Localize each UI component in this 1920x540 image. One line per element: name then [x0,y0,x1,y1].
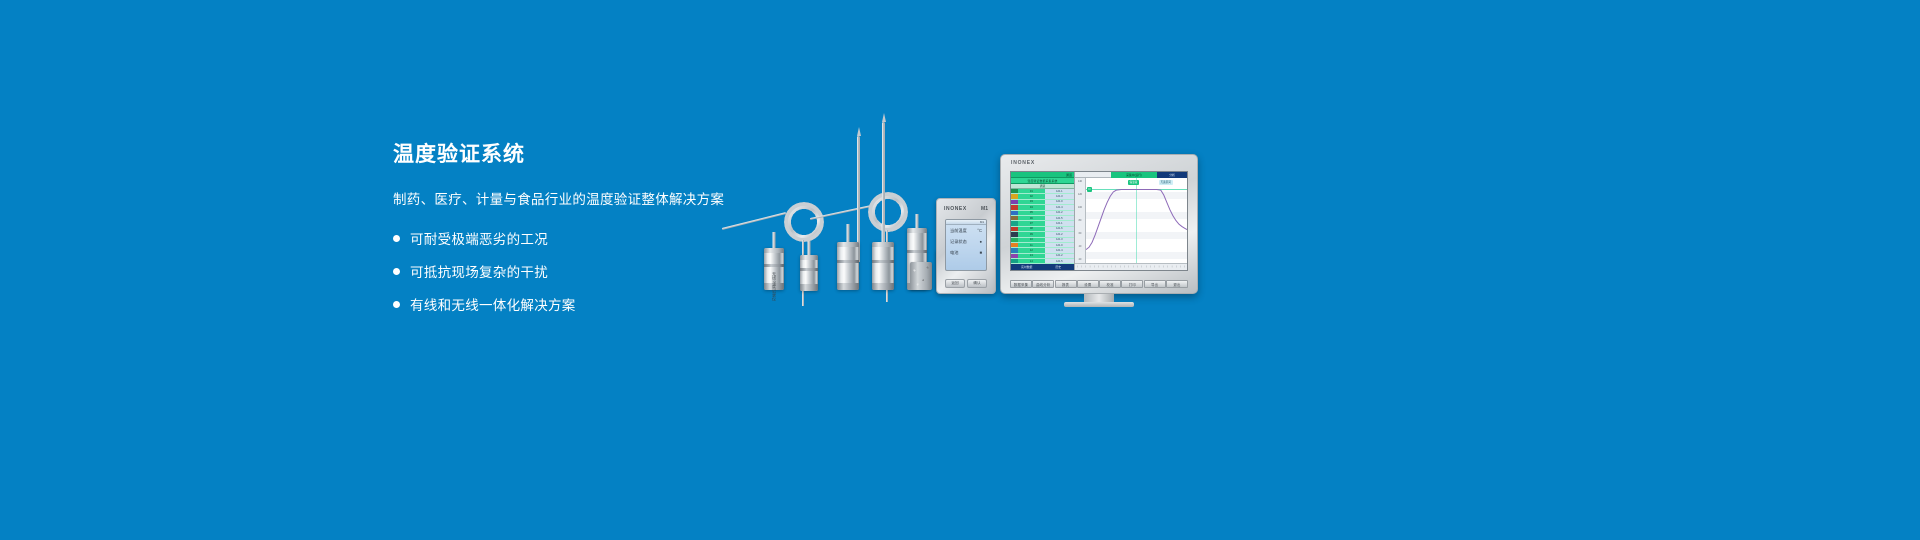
channel-value-cell: 121.2 [1045,232,1074,236]
y-axis-tick: 60 [1079,232,1082,235]
y-axis-tick: 80 [1079,219,1082,222]
tab-realtime[interactable]: 实时数据 [1011,264,1043,270]
handheld-row-label: 记录状态 [950,239,967,245]
bullet-dot-icon [393,268,400,275]
handheld-reader[interactable]: INONEX M1 M1 当前温度 °C 记录状态 ● 电池 ■ [936,198,996,294]
channel-id-cell: 03 [1018,200,1045,203]
channel-id-cell: 08 [1018,227,1045,230]
bullet-label: 可抵抗现场复杂的干扰 [410,261,548,281]
chart-plot-area[interactable]: D 保温段 灭菌区间 [1086,178,1187,263]
channel-table-body[interactable]: 01121.102121.303121.004121.405121.206121… [1011,189,1074,264]
channel-value-cell: 121.1 [1045,189,1074,193]
handheld-back-button[interactable]: 返回 [945,279,965,288]
plot-wrapper: 14012010080604020 D 保温段 灭菌区间 [1075,178,1187,263]
channel-value-cell: 121.1 [1045,221,1074,225]
footer-button-print[interactable]: 打印 [1121,280,1143,288]
handheld-row: 当前温度 °C [946,225,986,236]
chart-y-axis: 14012010080604020 [1075,178,1086,263]
x-axis-tick: | [1183,264,1187,270]
chart-left-marker[interactable]: D [1087,187,1092,192]
channel-value-cell: 121.5 [1045,216,1074,220]
data-logger-body [837,242,859,290]
handheld-brand-label: INONEX [944,206,967,212]
channel-color-swatch [1011,211,1018,215]
chart-cursor-pill[interactable]: 保温段 [1128,180,1140,185]
channel-color-swatch [1011,238,1018,242]
channel-value-cell: 121.3 [1045,238,1074,242]
tab-history[interactable]: 历史 [1043,264,1075,270]
handheld-row: 记录状态 ● [946,236,986,247]
channel-id-cell: 09 [1018,233,1045,236]
channel-color-swatch [1011,194,1018,198]
channel-id-cell: 04 [1018,206,1045,209]
handheld-confirm-button[interactable]: 确认 [967,279,987,288]
bullet-dot-icon [393,235,400,242]
channel-value-cell: 121.2 [1045,254,1074,258]
chart-panel: 采集中(运行) 分析 14012010080604020 D [1075,172,1187,270]
bullet-dot-icon [393,301,400,308]
y-axis-tick: 40 [1079,245,1082,248]
product-image-group: 无线温度记录仪 IN [700,110,1220,330]
handheld-screen-title: M1 [980,220,984,224]
channel-color-swatch [1011,227,1018,231]
monitor-display: INONEX 通道 温度验证数据采集系统 通道 01121.102121.303… [1000,154,1198,294]
monitor-stand [1000,294,1198,308]
software-footer-tabs: 实时数据 历史 [1011,264,1074,270]
temperature-curve [1086,178,1187,263]
channel-value-cell: 121.0 [1045,243,1074,247]
handheld-row-value: ■ [979,250,982,255]
channel-id-cell: 13 [1018,254,1045,257]
channel-id-cell: 10 [1018,238,1045,241]
chart-range-pill[interactable]: 灭菌区间 [1159,180,1173,185]
channel-value-cell: 121.4 [1045,205,1074,209]
footer-button-settings[interactable]: 设置 [1077,280,1099,288]
bullet-label: 有线和无线一体化解决方案 [410,294,576,314]
data-logger-body [800,255,818,291]
footer-button-export[interactable]: 导出 [1144,280,1166,288]
channel-id-cell: 11 [1018,244,1045,247]
channel-id-cell: 01 [1018,190,1045,193]
y-axis-tick: 120 [1078,193,1082,196]
y-axis-tick: 20 [1079,258,1082,261]
channel-value-cell: 121.0 [1045,200,1074,204]
channel-value-cell: 121.3 [1045,194,1074,198]
footer-button-calibrate[interactable]: 校准 [1099,280,1121,288]
monitor-screen[interactable]: 通道 温度验证数据采集系统 通道 01121.102121.303121.004… [1010,171,1188,271]
channel-value-cell: 121.5 [1045,259,1074,263]
monitor-footer-bar: 数据采集 曲线分析 报表 设置 校准 打印 导出 退出 [1010,280,1188,288]
bullet-label: 可耐受极端恶劣的工况 [410,228,548,248]
channel-value-cell: 121.4 [1045,248,1074,252]
channel-color-swatch [1011,254,1018,258]
channel-table-panel: 通道 温度验证数据采集系统 通道 01121.102121.303121.004… [1011,172,1075,270]
channel-color-swatch [1011,216,1018,220]
filter-puck-icon [910,262,932,290]
handheld-row-value: °C [977,228,982,233]
handheld-row-label: 电池 [950,250,958,256]
banner-root: 温度验证系统 制药、医疗、计量与食品行业的温度验证整体解决方案 可耐受极端恶劣的… [0,0,1920,540]
channel-id-cell: 14 [1018,260,1045,263]
handheld-screen[interactable]: M1 当前温度 °C 记录状态 ● 电池 ■ [945,219,987,271]
handheld-row-label: 当前温度 [950,228,967,234]
logger-label: 无线温度记录仪 [771,272,777,301]
handheld-button-row: 返回 确认 [945,279,987,288]
handheld-row-value: ● [979,239,982,244]
y-axis-tick: 100 [1078,206,1082,209]
channel-id-cell: 07 [1018,222,1045,225]
handheld-row: 电池 ■ [946,247,986,258]
channel-color-swatch [1011,221,1018,225]
channel-id-cell: 02 [1018,195,1045,198]
chart-x-axis: |||||||||||||||||||||||||| [1075,263,1187,270]
channel-color-swatch [1011,232,1018,236]
data-logger-body: 无线温度记录仪 [764,248,784,290]
handheld-titlebar: M1 [946,220,986,225]
channel-id-cell: 06 [1018,217,1045,220]
channel-value-cell: 121.2 [1045,211,1074,215]
channel-color-swatch [1011,189,1018,193]
software-header-right-label: 通道 [1066,173,1072,177]
footer-button-curve[interactable]: 曲线分析 [1032,280,1054,288]
channel-id-cell: 05 [1018,211,1045,214]
channel-color-swatch [1011,259,1018,263]
channel-value-cell: 121.6 [1045,227,1074,231]
footer-button-collect[interactable]: 数据采集 [1010,280,1032,288]
footer-button-exit[interactable]: 退出 [1166,280,1188,288]
software-window: 通道 温度验证数据采集系统 通道 01121.102121.303121.004… [1011,172,1187,270]
handheld-brand-row: INONEX M1 [944,206,988,212]
channel-color-swatch [1011,200,1018,204]
channel-color-swatch [1011,243,1018,247]
channel-id-cell: 12 [1018,249,1045,252]
monitor-brand-label: INONEX [1011,160,1035,166]
data-logger-body [872,242,894,290]
y-axis-tick: 140 [1078,180,1082,183]
handheld-model-label: M1 [981,206,988,212]
footer-button-report[interactable]: 报表 [1055,280,1077,288]
channel-color-swatch [1011,248,1018,252]
channel-color-swatch [1011,205,1018,209]
